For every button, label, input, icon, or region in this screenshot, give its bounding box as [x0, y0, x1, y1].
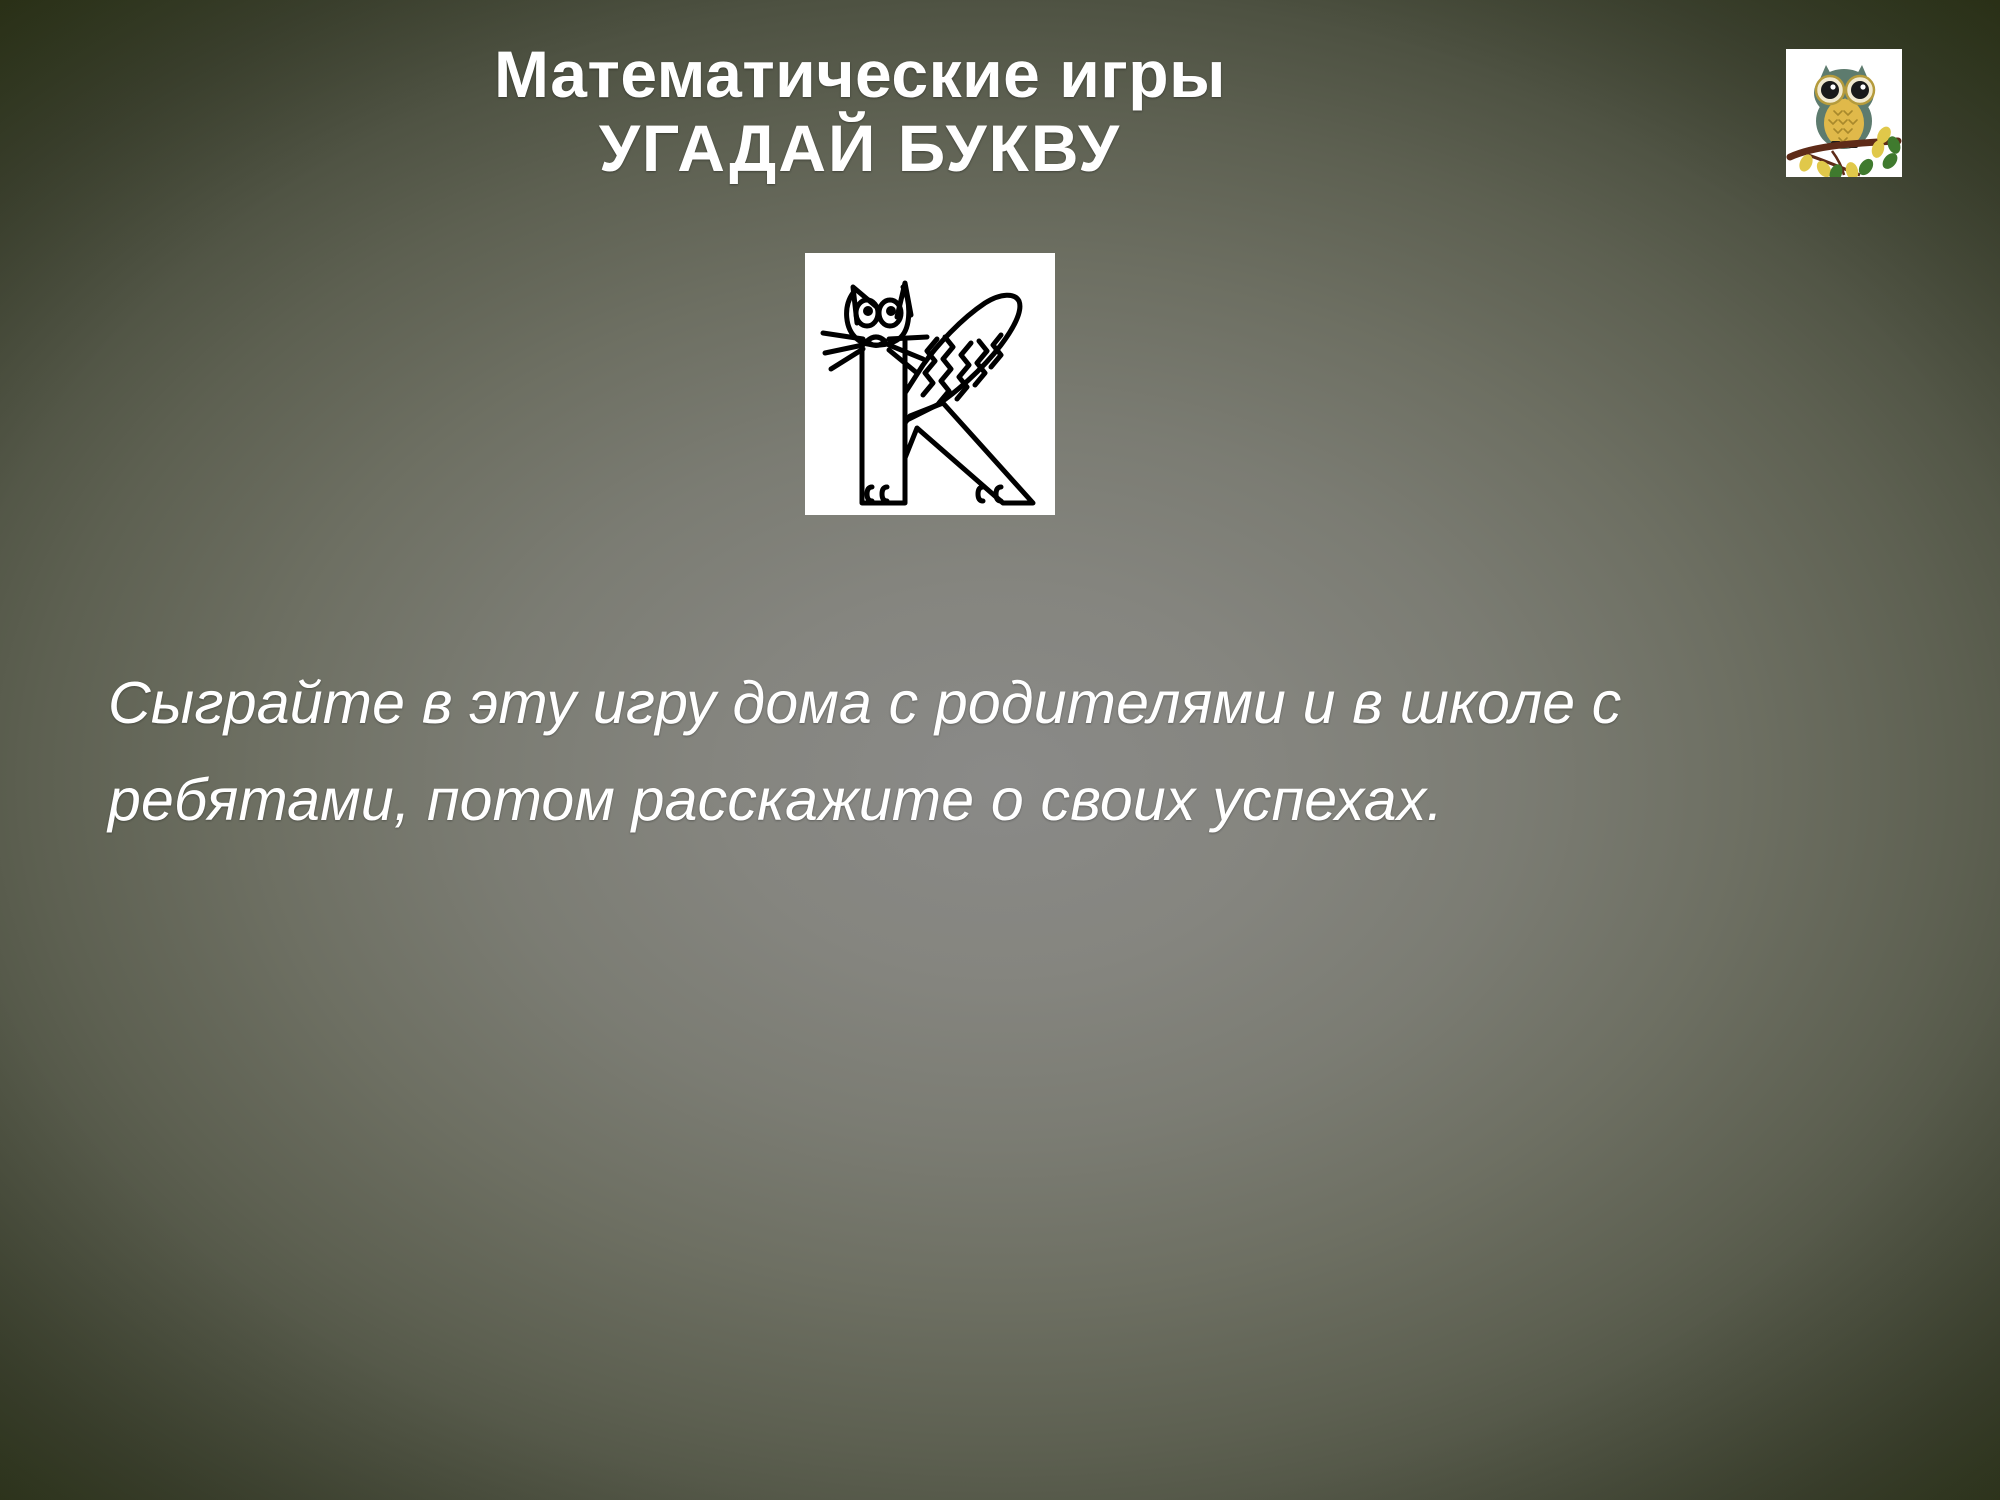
owl-image	[1786, 49, 1902, 177]
slide-title-line-1: Математические игры	[0, 38, 1720, 112]
slide-title-line-2: УГАДАЙ БУКВУ	[0, 112, 1720, 186]
owl-on-branch-icon	[1786, 49, 1902, 177]
cat-letter-k-icon	[805, 253, 1055, 515]
presentation-slide: Математические игры УГАДАЙ БУКВУ	[0, 0, 2000, 1500]
letter-k-image	[805, 253, 1055, 515]
slide-title-block: Математические игры УГАДАЙ БУКВУ	[0, 38, 1720, 186]
slide-body-text: Сыграйте в эту игру дома с родителями и …	[108, 655, 1938, 849]
